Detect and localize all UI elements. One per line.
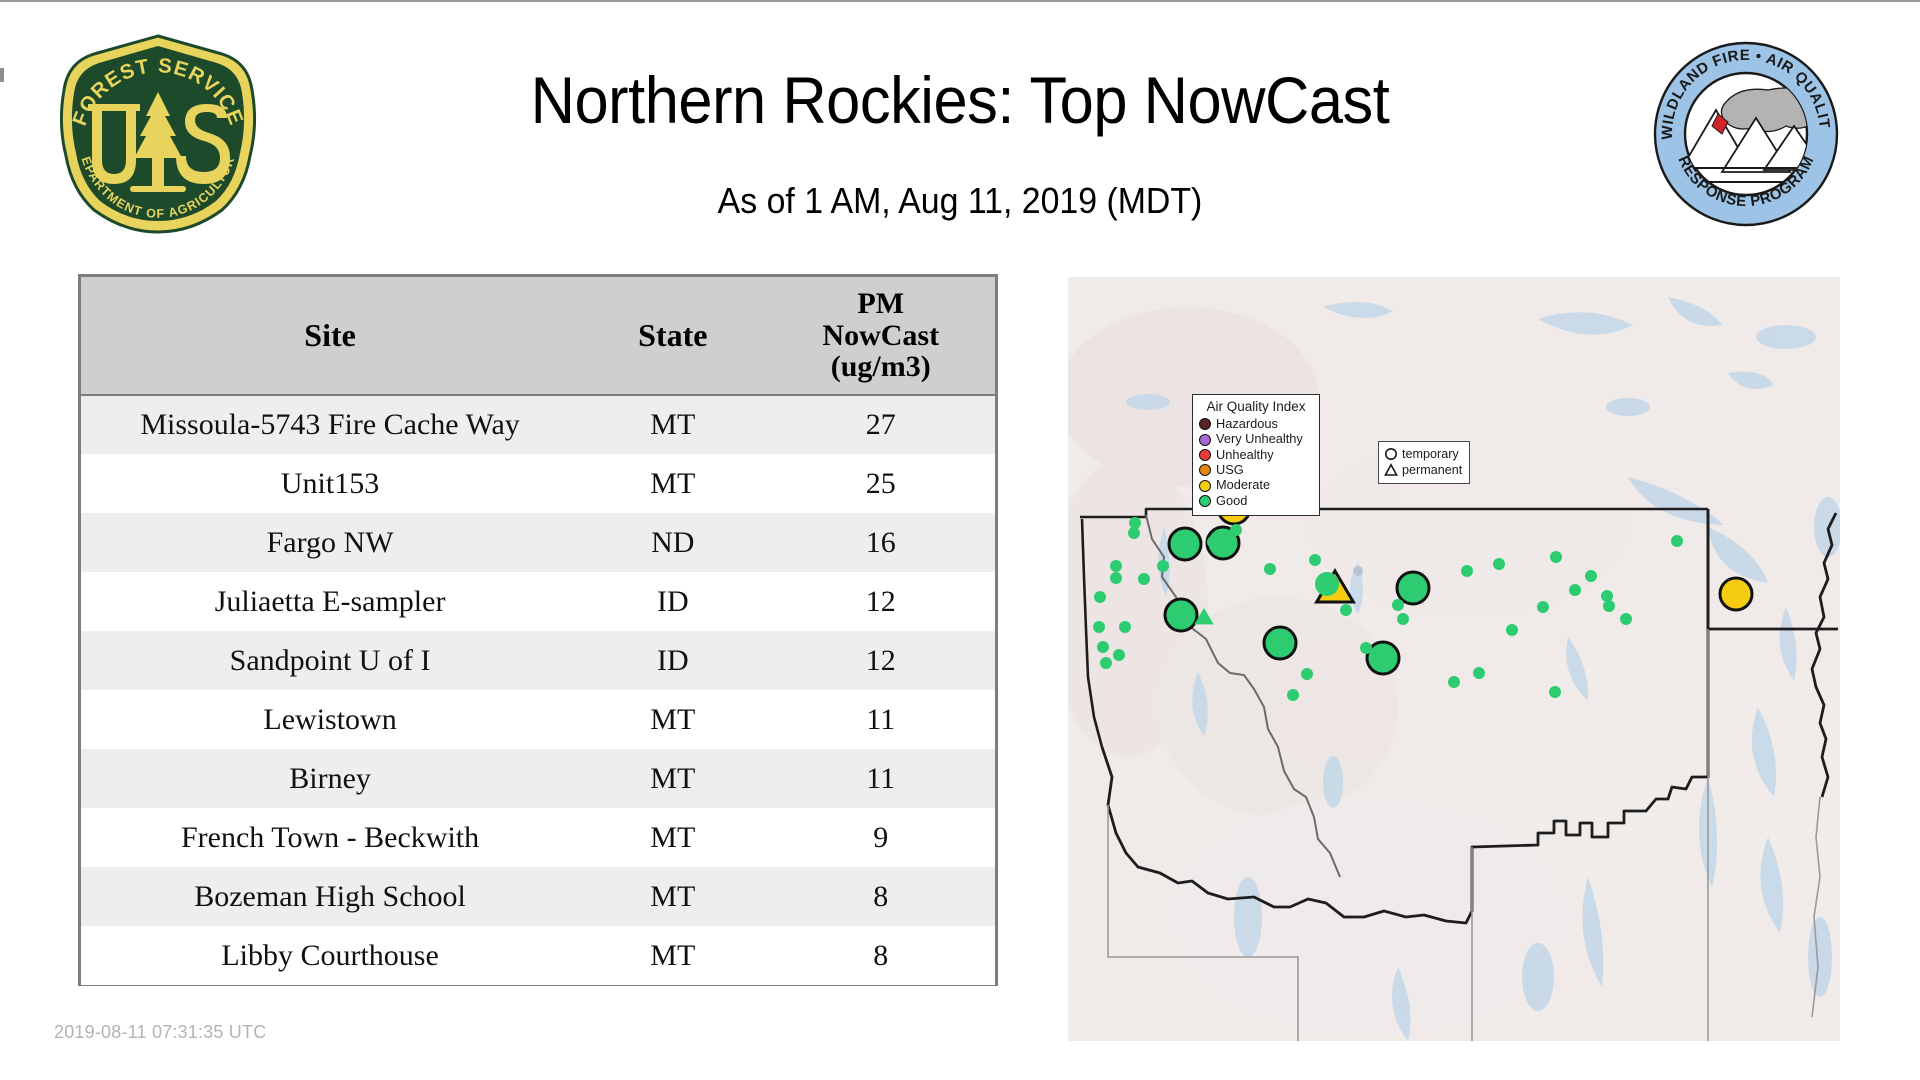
pm-value-cell: 25 bbox=[766, 454, 995, 513]
map-monitor-dot[interactable] bbox=[1473, 667, 1485, 679]
state-cell: MT bbox=[579, 749, 766, 808]
map-monitor-temporary[interactable] bbox=[1397, 572, 1429, 604]
map-monitor-dot[interactable] bbox=[1585, 570, 1597, 582]
monitor-type-legend: temporary permanent bbox=[1378, 441, 1470, 484]
map-monitor-dot[interactable] bbox=[1157, 560, 1169, 572]
map-monitor-dot[interactable] bbox=[1138, 573, 1150, 585]
map-monitor-dot[interactable] bbox=[1093, 621, 1105, 633]
map-monitor-dot[interactable] bbox=[1392, 599, 1404, 611]
pm-value-cell: 16 bbox=[766, 513, 995, 572]
site-cell: Bozeman High School bbox=[81, 867, 579, 926]
map-monitor-temporary[interactable] bbox=[1315, 572, 1339, 596]
aqi-legend: Air Quality Index HazardousVery Unhealth… bbox=[1192, 394, 1320, 516]
map-monitor-temporary[interactable] bbox=[1264, 627, 1296, 659]
top-nowcast-table: Site State PM NowCast (ug/m3) Missoula-5… bbox=[78, 274, 998, 986]
pm-header-line1: PM bbox=[772, 288, 989, 320]
page-title: Northern Rockies: Top NowCast bbox=[346, 62, 1574, 138]
column-header-state: State bbox=[579, 277, 766, 395]
pm-value-cell: 8 bbox=[766, 867, 995, 926]
map-monitor-dot[interactable] bbox=[1094, 591, 1106, 603]
table-row: Missoula-5743 Fire Cache WayMT27 bbox=[81, 395, 995, 454]
table-row: Unit153MT25 bbox=[81, 454, 995, 513]
map-monitor-dot[interactable] bbox=[1110, 560, 1122, 572]
state-cell: MT bbox=[579, 926, 766, 985]
aqi-legend-item: Good bbox=[1199, 493, 1313, 508]
pm-value-cell: 9 bbox=[766, 808, 995, 867]
site-cell: Birney bbox=[81, 749, 579, 808]
pm-value-cell: 8 bbox=[766, 926, 995, 985]
top-divider bbox=[0, 0, 1920, 2]
table-row: LewistownMT11 bbox=[81, 690, 995, 749]
left-edge-tick bbox=[0, 68, 4, 82]
aqi-swatch-icon bbox=[1199, 418, 1211, 430]
map-monitor-dot[interactable] bbox=[1100, 657, 1112, 669]
map-monitor-dot[interactable] bbox=[1119, 621, 1131, 633]
table-row: Juliaetta E-samplerID12 bbox=[81, 572, 995, 631]
state-cell: MT bbox=[579, 395, 766, 454]
pm-header-line2: NowCast bbox=[772, 320, 989, 352]
map-monitor-dot[interactable] bbox=[1569, 584, 1581, 596]
site-cell: Fargo NW bbox=[81, 513, 579, 572]
table-row: Libby CourthouseMT8 bbox=[81, 926, 995, 985]
state-cell: MT bbox=[579, 690, 766, 749]
aqi-legend-label: Unhealthy bbox=[1216, 449, 1274, 462]
legend-temporary: temporary bbox=[1384, 446, 1462, 462]
aqi-legend-item: Very Unhealthy bbox=[1199, 432, 1313, 447]
aqi-swatch-icon bbox=[1199, 464, 1211, 476]
table-row: Fargo NWND16 bbox=[81, 513, 995, 572]
legend-permanent-label: permanent bbox=[1402, 464, 1462, 477]
pm-header-line3: (ug/m3) bbox=[772, 351, 989, 383]
map-monitor-dot[interactable] bbox=[1549, 686, 1561, 698]
state-cell: ID bbox=[579, 572, 766, 631]
page-subtitle: As of 1 AM, Aug 11, 2019 (MDT) bbox=[340, 180, 1581, 222]
state-cell: ND bbox=[579, 513, 766, 572]
pm-value-cell: 27 bbox=[766, 395, 995, 454]
map-monitor-dot[interactable] bbox=[1550, 551, 1562, 563]
table-row: Sandpoint U of IID12 bbox=[81, 631, 995, 690]
site-cell: French Town - Beckwith bbox=[81, 808, 579, 867]
map-monitor-dot[interactable] bbox=[1671, 535, 1683, 547]
column-header-site: Site bbox=[81, 277, 579, 395]
map-monitor-dot[interactable] bbox=[1207, 536, 1219, 548]
map-monitor-dot[interactable] bbox=[1097, 641, 1109, 653]
aqi-legend-label: Very Unhealthy bbox=[1216, 433, 1303, 446]
map-monitor-dot[interactable] bbox=[1493, 558, 1505, 570]
site-cell: Sandpoint U of I bbox=[81, 631, 579, 690]
map-monitor-temporary[interactable] bbox=[1165, 599, 1197, 631]
aqi-legend-label: USG bbox=[1216, 464, 1244, 477]
aqi-legend-item: USG bbox=[1199, 463, 1313, 478]
state-cell: MT bbox=[579, 808, 766, 867]
forest-service-logo: FOREST SERVICE DEPARTMENT OF AGRICULTURE bbox=[52, 32, 264, 236]
table-row: Bozeman High SchoolMT8 bbox=[81, 867, 995, 926]
table-header-row: Site State PM NowCast (ug/m3) bbox=[81, 277, 995, 395]
column-header-pm-nowcast: PM NowCast (ug/m3) bbox=[766, 277, 995, 395]
site-cell: Juliaetta E-sampler bbox=[81, 572, 579, 631]
legend-temporary-label: temporary bbox=[1402, 448, 1459, 461]
aqi-legend-title: Air Quality Index bbox=[1199, 400, 1313, 414]
state-cell: ID bbox=[579, 631, 766, 690]
aqi-legend-label: Hazardous bbox=[1216, 418, 1278, 431]
aqi-swatch-icon bbox=[1199, 480, 1211, 492]
map-monitor-dot[interactable] bbox=[1309, 554, 1321, 566]
air-quality-map[interactable]: Air Quality Index HazardousVery Unhealth… bbox=[1068, 277, 1840, 1041]
map-monitor-dot[interactable] bbox=[1287, 689, 1299, 701]
map-monitor-dot[interactable] bbox=[1537, 601, 1549, 613]
map-monitor-dot[interactable] bbox=[1506, 624, 1518, 636]
table-row: BirneyMT11 bbox=[81, 749, 995, 808]
pm-value-cell: 11 bbox=[766, 690, 995, 749]
map-monitor-dot[interactable] bbox=[1113, 649, 1125, 661]
map-monitor-dot[interactable] bbox=[1301, 668, 1313, 680]
map-monitor-dot[interactable] bbox=[1353, 566, 1363, 576]
map-monitor-dot[interactable] bbox=[1601, 590, 1613, 602]
aqi-swatch-icon bbox=[1199, 434, 1211, 446]
pm-value-cell: 12 bbox=[766, 572, 995, 631]
permanent-triangle-icon bbox=[1384, 463, 1398, 477]
map-monitor-dot[interactable] bbox=[1448, 676, 1460, 688]
pm-value-cell: 11 bbox=[766, 749, 995, 808]
aqi-swatch-icon bbox=[1199, 449, 1211, 461]
pm-value-cell: 12 bbox=[766, 631, 995, 690]
map-monitor-temporary[interactable] bbox=[1720, 578, 1752, 610]
map-monitor-dot[interactable] bbox=[1340, 604, 1352, 616]
site-cell: Lewistown bbox=[81, 690, 579, 749]
state-cell: MT bbox=[579, 867, 766, 926]
map-monitor-dot[interactable] bbox=[1620, 613, 1632, 625]
site-cell: Missoula-5743 Fire Cache Way bbox=[81, 395, 579, 454]
map-monitor-dot[interactable] bbox=[1110, 572, 1122, 584]
map-monitor-temporary[interactable] bbox=[1169, 528, 1201, 560]
aqi-legend-item: Hazardous bbox=[1199, 417, 1313, 432]
state-cell: MT bbox=[579, 454, 766, 513]
wildland-fire-air-quality-logo: WILDLAND FIRE • AIR QUALITY RESPONSE PRO… bbox=[1652, 40, 1840, 228]
map-monitor-dot[interactable] bbox=[1128, 527, 1140, 539]
map-monitor-dot[interactable] bbox=[1264, 563, 1276, 575]
site-cell: Libby Courthouse bbox=[81, 926, 579, 985]
aqi-legend-item: Unhealthy bbox=[1199, 447, 1313, 462]
site-cell: Unit153 bbox=[81, 454, 579, 513]
aqi-legend-label: Moderate bbox=[1216, 479, 1270, 492]
map-monitor-dot[interactable] bbox=[1603, 600, 1615, 612]
legend-permanent: permanent bbox=[1384, 462, 1462, 478]
map-monitor-dot[interactable] bbox=[1397, 613, 1409, 625]
slide-root: FOREST SERVICE DEPARTMENT OF AGRICULTURE bbox=[0, 0, 1920, 1080]
aqi-swatch-icon bbox=[1199, 495, 1211, 507]
map-monitor-dot[interactable] bbox=[1461, 565, 1473, 577]
footer-timestamp: 2019-08-11 07:31:35 UTC bbox=[54, 1022, 266, 1043]
map-monitor-dot[interactable] bbox=[1230, 524, 1242, 536]
map-monitor-dot[interactable] bbox=[1360, 642, 1372, 654]
temporary-circle-icon bbox=[1384, 447, 1398, 461]
aqi-legend-item: Moderate bbox=[1199, 478, 1313, 493]
table-row: French Town - BeckwithMT9 bbox=[81, 808, 995, 867]
aqi-legend-label: Good bbox=[1216, 495, 1247, 508]
